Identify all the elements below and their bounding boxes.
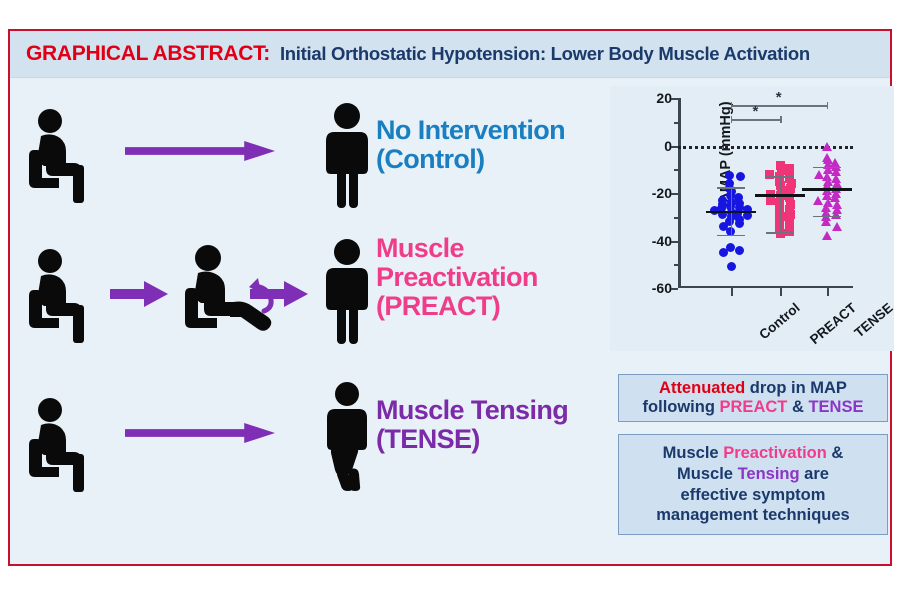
condition-row-control: No Intervention (Control): [10, 86, 610, 226]
data-point: [719, 248, 728, 257]
scatter-plot-panel: ΔMAP (mmHg) 200-20-40-60 ** ControlPREAC…: [610, 86, 894, 351]
y-tick-label: -20: [652, 185, 672, 201]
seated-person-icon: [24, 108, 98, 204]
significance-asterisk: *: [776, 89, 782, 106]
callout1-line1-emphasis: Attenuated: [659, 379, 745, 397]
significance-bar-end: [827, 102, 829, 109]
significance-bar-end: [731, 116, 733, 123]
standing-person-icon: [318, 238, 376, 344]
significance-bar-end: [731, 102, 733, 109]
y-minor-tick-mark: [674, 122, 678, 124]
y-tick-mark: [671, 288, 678, 290]
data-point: [822, 231, 832, 240]
mean-line: [802, 188, 852, 191]
callout1-preact: PREACT: [720, 398, 788, 416]
callout-attenuated-drop: Attenuated drop in MAP following PREACT …: [618, 374, 888, 422]
condition-row-preact: Muscle Preactivation (PREACT): [10, 226, 610, 366]
data-point: [832, 222, 842, 231]
significance-asterisk: *: [753, 103, 759, 120]
x-tick-mark: [827, 288, 829, 296]
error-bar-cap: [717, 235, 745, 237]
callout2-line2-prefix: Muscle: [677, 465, 738, 483]
callout-effective-techniques: Muscle Preactivation & Muscle Tensing ar…: [618, 434, 888, 535]
data-point: [735, 219, 744, 228]
data-point: [821, 217, 831, 226]
callout1-amp: &: [787, 398, 808, 416]
y-tick-mark: [671, 98, 678, 100]
y-minor-tick-mark: [674, 217, 678, 219]
callout2-line3: effective symptom: [681, 486, 826, 504]
page-title: Initial Orthostatic Hypotension: Lower B…: [280, 43, 810, 65]
y-tick-label: -40: [652, 233, 672, 249]
x-tick-label: Control: [756, 300, 802, 342]
callout1-line2-prefix: following: [643, 398, 720, 416]
y-tick-mark: [671, 241, 678, 243]
right-arrow-icon: [110, 141, 290, 161]
callout2-line4: management techniques: [656, 506, 849, 524]
header-banner: GRAPHICAL ABSTRACT: Initial Orthostatic …: [10, 31, 890, 78]
x-tick-mark: [780, 288, 782, 296]
y-minor-tick-mark: [674, 169, 678, 171]
standing-person-icon: [318, 102, 376, 208]
data-point: [727, 262, 736, 271]
callout2-tensing: Tensing: [738, 465, 800, 483]
x-tick-label: PREACT: [807, 300, 859, 347]
y-tick-mark: [671, 193, 678, 195]
y-tick-label: 20: [656, 90, 672, 106]
plot-area: ΔMAP (mmHg) 200-20-40-60 ** ControlPREAC…: [678, 98, 853, 288]
significance-bar-end: [780, 116, 782, 123]
callout1-tense: TENSE: [808, 398, 863, 416]
error-bar: [827, 167, 829, 216]
error-bar-cap: [813, 216, 841, 218]
data-point: [726, 243, 735, 252]
y-axis: [678, 98, 681, 288]
mean-line: [706, 211, 756, 214]
data-point: [831, 210, 841, 219]
right-arrow-icon: [110, 423, 290, 443]
seated-person-icon: [24, 248, 98, 344]
error-bar: [780, 176, 782, 232]
data-point: [785, 227, 794, 236]
data-point: [735, 246, 744, 255]
graphical-abstract-badge: GRAPHICAL ABSTRACT:: [26, 42, 270, 66]
callout2-preactivation: Preactivation: [723, 444, 827, 462]
data-point: [736, 172, 745, 181]
callout1-line1-rest: drop in MAP: [745, 379, 847, 397]
x-tick-label: TENSE: [851, 300, 895, 340]
callout2-line1-suffix: &: [827, 444, 844, 462]
seated-person-icon: [24, 397, 98, 493]
right-arrow-icon: [250, 281, 308, 307]
error-bar-cap: [766, 176, 794, 178]
graphical-abstract-frame: GRAPHICAL ABSTRACT: Initial Orthostatic …: [8, 29, 892, 566]
y-tick-label: -60: [652, 280, 672, 296]
condition-label-tense: Muscle Tensing (TENSE): [376, 396, 568, 454]
condition-label-preact: Muscle Preactivation (PREACT): [376, 234, 538, 321]
data-point: [822, 142, 832, 151]
condition-label-control: No Intervention (Control): [376, 116, 565, 174]
y-minor-tick-mark: [674, 264, 678, 266]
y-tick-mark: [671, 146, 678, 148]
callout2-line1-prefix: Muscle: [663, 444, 724, 462]
callout2-line2-suffix: are: [800, 465, 829, 483]
error-bar-cap: [766, 232, 794, 234]
x-tick-mark: [731, 288, 733, 296]
condition-row-tense: Muscle Tensing (TENSE): [10, 371, 610, 511]
error-bar-cap: [717, 187, 745, 189]
mean-line: [755, 194, 805, 197]
error-bar-cap: [813, 167, 841, 169]
standing-legs-crossed-person-icon: [318, 381, 376, 491]
right-arrow-icon: [110, 281, 168, 307]
